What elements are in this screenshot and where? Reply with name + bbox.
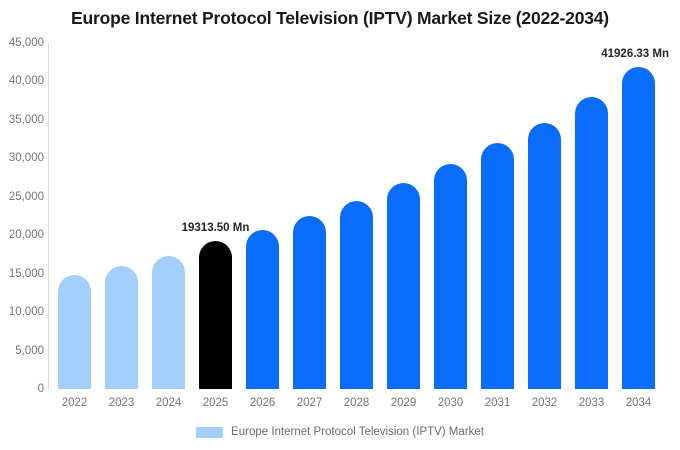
bar-2022[interactable] — [58, 275, 91, 389]
x-axis-tick-label: 2026 — [240, 397, 286, 409]
y-axis-tick-label: 40,000 — [0, 75, 44, 87]
y-axis-tick-label: 45,000 — [0, 37, 44, 49]
bar-value-label-2034: 41926.33 Mn — [601, 48, 669, 60]
x-axis-tick-label: 2030 — [428, 397, 474, 409]
bar-group — [528, 43, 561, 389]
y-axis-tick-label: 0 — [0, 383, 44, 395]
x-axis-tick-label: 2024 — [146, 397, 192, 409]
bar-2026[interactable] — [246, 230, 279, 389]
bar-group — [58, 43, 91, 389]
x-axis-tick-label: 2034 — [616, 397, 662, 409]
x-axis-tick-label: 2029 — [381, 397, 427, 409]
bar-group — [575, 43, 608, 389]
x-axis-tick-label: 2022 — [52, 397, 98, 409]
bar-group — [105, 43, 138, 389]
bar-group: 41926.33 Mn — [622, 43, 655, 389]
chart-legend[interactable]: Europe Internet Protocol Television (IPT… — [0, 426, 680, 438]
bar-2034[interactable] — [622, 67, 655, 389]
bar-group — [293, 43, 326, 389]
x-axis-tick-label: 2032 — [522, 397, 568, 409]
y-axis-tick-label: 30,000 — [0, 152, 44, 164]
x-axis-tick-label: 2027 — [287, 397, 333, 409]
bar-value-label-2025: 19313.50 Mn — [182, 222, 250, 234]
x-axis-tick-label: 2023 — [99, 397, 145, 409]
y-axis-tick-label: 20,000 — [0, 229, 44, 241]
bar-2032[interactable] — [528, 123, 561, 389]
legend-label: Europe Internet Protocol Television (IPT… — [231, 426, 484, 438]
bar-group — [481, 43, 514, 389]
bar-2029[interactable] — [387, 183, 420, 389]
x-axis-tick-label: 2033 — [569, 397, 615, 409]
y-axis-tick-label: 35,000 — [0, 114, 44, 126]
bar-2024[interactable] — [152, 256, 185, 389]
y-axis-tick-label: 15,000 — [0, 268, 44, 280]
y-axis-tick-label: 25,000 — [0, 191, 44, 203]
bar-2030[interactable] — [434, 164, 467, 389]
y-axis-tick-label: 10,000 — [0, 306, 44, 318]
bar-2023[interactable] — [105, 266, 138, 389]
bar-group — [340, 43, 373, 389]
bar-group: 19313.50 Mn — [199, 43, 232, 389]
chart-title: Europe Internet Protocol Television (IPT… — [0, 8, 680, 29]
bar-group — [246, 43, 279, 389]
x-axis-tick-label: 2031 — [475, 397, 521, 409]
x-axis-tick-label: 2028 — [334, 397, 380, 409]
bar-group — [387, 43, 420, 389]
y-axis: 45,00040,00035,00030,00025,00020,00015,0… — [0, 43, 44, 389]
chart-container: Europe Internet Protocol Television (IPT… — [0, 0, 680, 450]
bar-2025[interactable] — [199, 241, 232, 389]
x-axis-tick-label: 2025 — [193, 397, 239, 409]
bar-2027[interactable] — [293, 216, 326, 389]
legend-swatch-icon — [196, 427, 223, 438]
x-axis: 2022202320242025202620272028202920302031… — [48, 392, 680, 414]
y-axis-tick-label: 5,000 — [0, 345, 44, 357]
bar-group — [434, 43, 467, 389]
bar-2028[interactable] — [340, 201, 373, 389]
bar-group — [152, 43, 185, 389]
bar-2033[interactable] — [575, 97, 608, 389]
plot-area: 19313.50 Mn41926.33 Mn — [48, 43, 680, 389]
bar-2031[interactable] — [481, 143, 514, 389]
